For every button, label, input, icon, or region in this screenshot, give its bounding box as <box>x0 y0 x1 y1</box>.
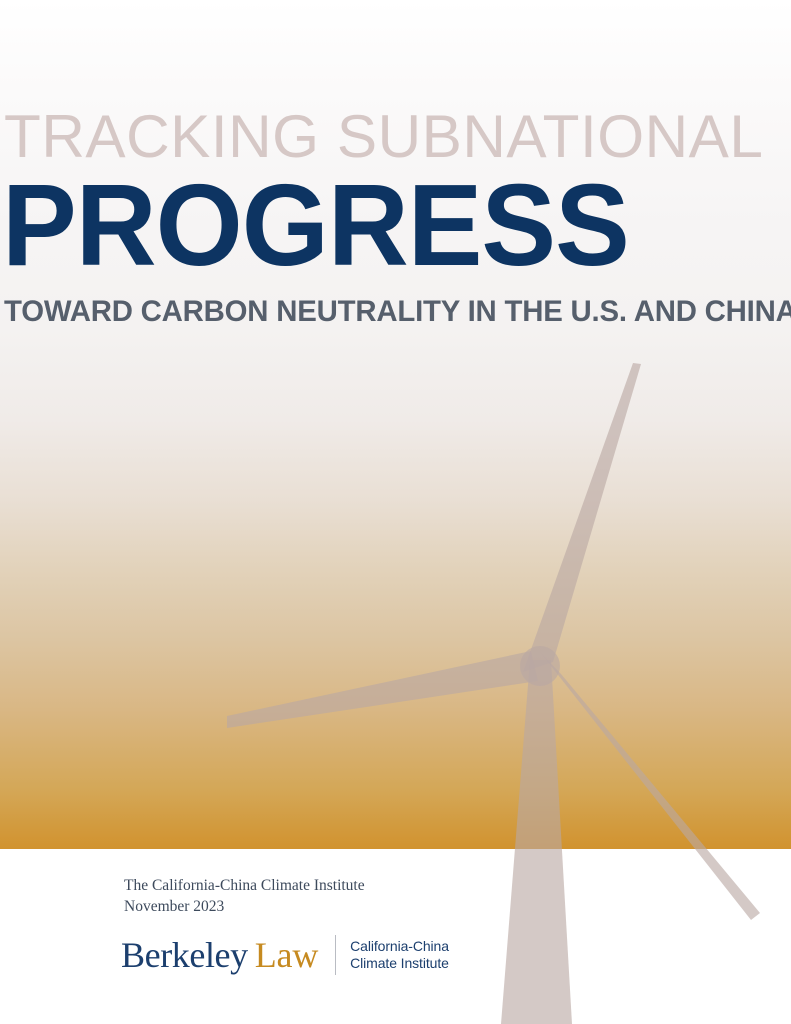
logo-institute-name: California-China Climate Institute <box>350 938 449 972</box>
publisher-organization: The California-China Climate Institute <box>124 875 365 896</box>
logo-law-wordmark: Law <box>255 937 318 973</box>
berkeley-law-logo: Berkeley Law California-China Climate In… <box>121 933 449 977</box>
headline-subtitle: TOWARD CARBON NEUTRALITY IN THE U.S. AND… <box>4 296 791 328</box>
turbine-tower <box>501 660 572 1024</box>
logo-berkeley-wordmark: Berkeley <box>121 937 248 973</box>
turbine-blade-upper <box>523 363 641 672</box>
logo-institute-line-2: Climate Institute <box>350 955 449 972</box>
report-cover-page: TRACKING SUBNATIONAL PROGRESS TOWARD CAR… <box>0 0 791 1024</box>
turbine-blade-left <box>227 651 538 728</box>
turbine-blade-lower-right <box>540 652 760 920</box>
publication-date: November 2023 <box>124 896 365 917</box>
headline-kicker: TRACKING SUBNATIONAL <box>4 106 763 168</box>
page-title: PROGRESS <box>2 167 629 283</box>
logo-divider-rule <box>335 935 336 975</box>
logo-institute-line-1: California-China <box>350 938 449 955</box>
publisher-credit: The California-China Climate Institute N… <box>124 875 365 917</box>
turbine-hub <box>520 646 560 686</box>
